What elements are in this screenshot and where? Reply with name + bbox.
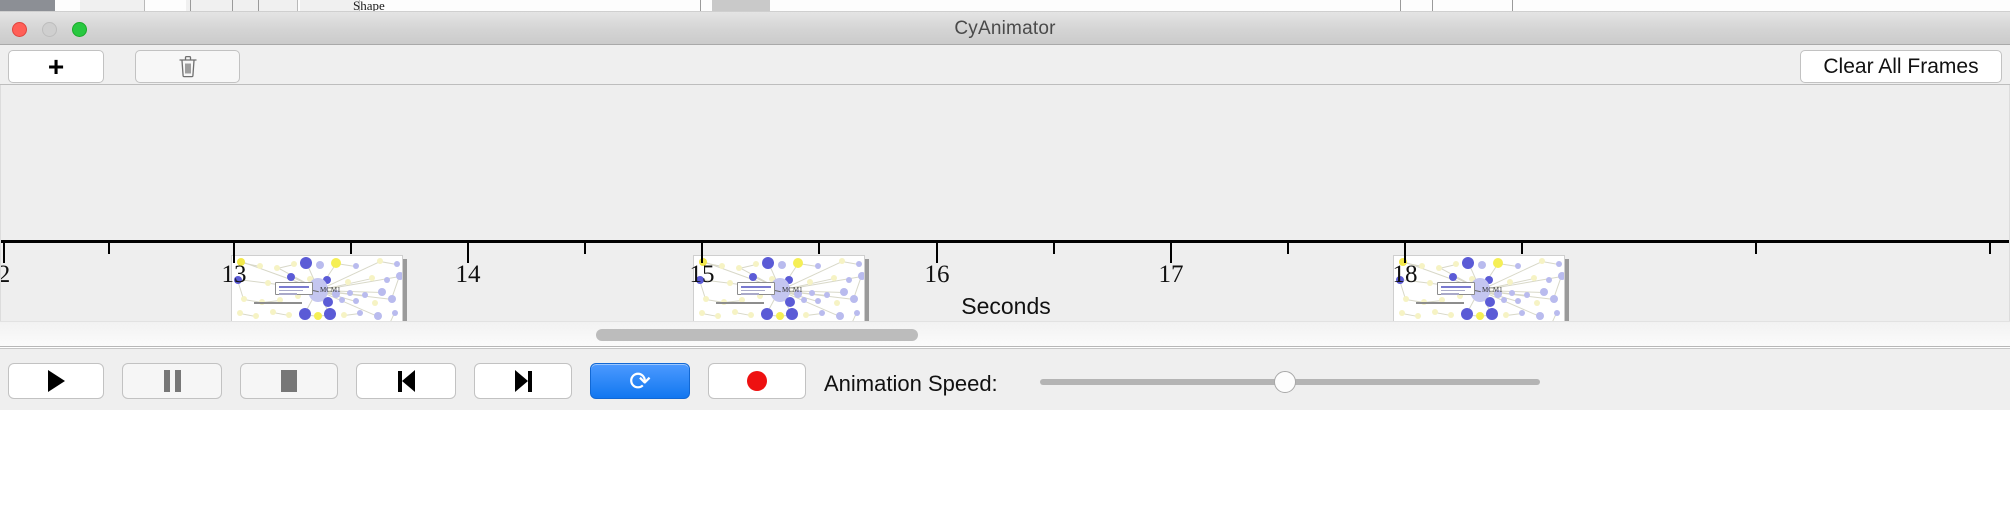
network-node	[1478, 261, 1486, 269]
axis-tick-minor	[350, 243, 352, 254]
timeline-panel[interactable]: MCM1MCM1MCM1 2131415161718 Seconds	[0, 85, 2010, 321]
axis-tick-major	[1170, 243, 1172, 263]
network-node	[1427, 280, 1433, 286]
axis-tick-label: 14	[456, 261, 481, 289]
network-node	[369, 275, 375, 281]
axis-tick-major	[701, 243, 703, 263]
clear-all-frames-button[interactable]: Clear All Frames	[1800, 50, 2002, 83]
axis-tick-minor	[1755, 243, 1757, 254]
network-node	[291, 261, 297, 267]
plus-icon: +	[48, 53, 64, 81]
window-title: CyAnimator	[0, 12, 2010, 45]
axis-tick-label: 15	[690, 261, 715, 289]
cyanimator-window: Shape CyAnimator + Clear All Frames MCM1…	[0, 0, 2010, 510]
axis-tick-minor	[1989, 243, 1991, 254]
pause-icon	[164, 370, 181, 392]
axis-tick-major	[467, 243, 469, 263]
toolbar: + Clear All Frames	[0, 45, 2010, 85]
axis-tick-label: 2	[0, 261, 10, 289]
scrollbar-thumb[interactable]	[596, 329, 918, 341]
axis-tick-major	[3, 243, 5, 263]
play-icon	[48, 370, 65, 392]
title-bar: CyAnimator	[0, 12, 2010, 45]
play-button[interactable]	[8, 363, 104, 399]
network-node	[1515, 263, 1521, 269]
trash-icon	[178, 55, 198, 78]
loop-icon: ⟳	[629, 368, 651, 394]
network-node	[736, 265, 742, 271]
axis-tick-minor	[1287, 243, 1289, 254]
network-node	[793, 258, 803, 268]
axis-tick-label: 18	[1393, 261, 1418, 289]
axis-tick-major	[1404, 243, 1406, 263]
previous-frame-button[interactable]	[356, 363, 456, 399]
network-node	[778, 261, 786, 269]
axis-tick-minor	[818, 243, 820, 254]
axis-title: Seconds	[1, 293, 2010, 320]
network-node	[1539, 258, 1545, 264]
network-node	[807, 279, 813, 285]
network-node	[1449, 273, 1457, 281]
network-node	[727, 280, 733, 286]
pause-button[interactable]	[122, 363, 222, 399]
animation-speed-label: Animation Speed:	[824, 371, 998, 397]
axis-tick-minor	[108, 243, 110, 254]
axis-tick-label: 16	[925, 261, 950, 289]
network-node	[846, 277, 852, 283]
network-node	[815, 263, 821, 269]
background-window-label: Shape	[353, 0, 385, 12]
animation-speed-slider-knob[interactable]	[1274, 371, 1296, 393]
next-frame-button[interactable]	[474, 363, 572, 399]
network-node	[1531, 275, 1537, 281]
network-node	[1507, 279, 1513, 285]
axis-tick-major	[936, 243, 938, 263]
network-node	[1419, 263, 1425, 269]
delete-frame-button[interactable]	[135, 50, 240, 83]
playback-controls: ⟳ Animation Speed:	[0, 348, 2010, 410]
network-node	[316, 261, 324, 269]
network-node	[377, 258, 383, 264]
stop-button[interactable]	[240, 363, 338, 399]
axis-tick-major	[233, 243, 235, 263]
horizontal-scrollbar[interactable]	[0, 321, 2010, 347]
axis-tick-label: 17	[1159, 261, 1184, 289]
network-node	[396, 272, 403, 280]
skip-back-icon	[398, 370, 415, 392]
network-node	[1546, 277, 1552, 283]
network-node	[839, 258, 845, 264]
network-node	[1556, 261, 1562, 267]
axis-tick-minor	[1521, 243, 1523, 254]
skip-forward-icon	[515, 370, 532, 392]
network-node	[331, 258, 341, 268]
stop-icon	[281, 370, 297, 392]
network-node	[719, 263, 725, 269]
network-node	[300, 257, 312, 269]
record-button[interactable]	[708, 363, 806, 399]
network-node	[1462, 257, 1474, 269]
network-node	[1558, 272, 1565, 280]
background-window-strip: Shape	[0, 0, 2010, 12]
network-node	[753, 261, 759, 267]
network-node	[287, 273, 295, 281]
network-node	[265, 280, 271, 286]
network-node	[1453, 261, 1459, 267]
axis-tick-label: 13	[222, 261, 247, 289]
network-node	[345, 279, 351, 285]
network-node	[762, 257, 774, 269]
network-node	[1436, 265, 1442, 271]
network-node	[749, 273, 757, 281]
network-node	[394, 261, 400, 267]
axis-tick-minor	[584, 243, 586, 254]
network-node	[257, 263, 263, 269]
network-node	[384, 277, 390, 283]
record-icon	[747, 371, 767, 391]
timeline-axis	[1, 240, 2010, 243]
add-frame-button[interactable]: +	[8, 50, 104, 83]
network-node	[1493, 258, 1503, 268]
network-node	[856, 261, 862, 267]
network-node	[353, 263, 359, 269]
network-node	[274, 265, 280, 271]
network-node	[858, 272, 865, 280]
network-node	[831, 275, 837, 281]
loop-button[interactable]: ⟳	[590, 363, 690, 399]
axis-tick-minor	[1053, 243, 1055, 254]
clear-all-frames-label: Clear All Frames	[1823, 55, 1978, 79]
